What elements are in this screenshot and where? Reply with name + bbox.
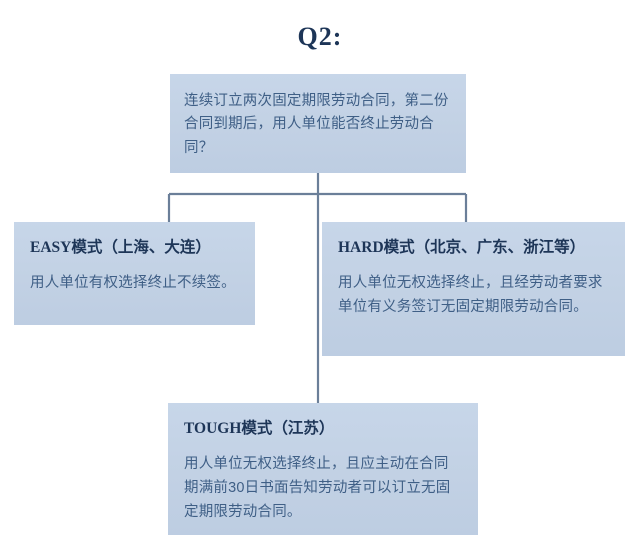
- node-tough-heading: TOUGH模式（江苏）: [184, 417, 462, 440]
- node-question-text: 连续订立两次固定期限劳动合同，第二份合同到期后，用人单位能否终止劳动合同？: [184, 90, 452, 160]
- node-hard-mode[interactable]: HARD模式（北京、广东、浙江等） 用人单位无权选择终止，且经劳动者要求单位有义…: [322, 222, 625, 356]
- page-title: Q2:: [0, 22, 640, 52]
- node-easy-mode[interactable]: EASY模式（上海、大连） 用人单位有权选择终止不续签。: [14, 222, 255, 325]
- node-question[interactable]: 连续订立两次固定期限劳动合同，第二份合同到期后，用人单位能否终止劳动合同？: [170, 74, 466, 173]
- node-tough-mode[interactable]: TOUGH模式（江苏） 用人单位无权选择终止，且应主动在合同期满前30日书面告知…: [168, 403, 478, 535]
- node-easy-body: 用人单位有权选择终止不续签。: [30, 272, 239, 296]
- node-easy-heading: EASY模式（上海、大连）: [30, 236, 239, 259]
- node-hard-heading: HARD模式（北京、广东、浙江等）: [338, 236, 609, 259]
- node-tough-body: 用人单位无权选择终止，且应主动在合同期满前30日书面告知劳动者可以订立无固定期限…: [184, 453, 462, 525]
- node-hard-body: 用人单位无权选择终止，且经劳动者要求单位有义务签订无固定期限劳动合同。: [338, 272, 609, 320]
- diagram-canvas: Q2: 连续订立两次固定期限劳动合同，第二份合同到期后，用人单位能否终止劳动合同…: [0, 0, 640, 557]
